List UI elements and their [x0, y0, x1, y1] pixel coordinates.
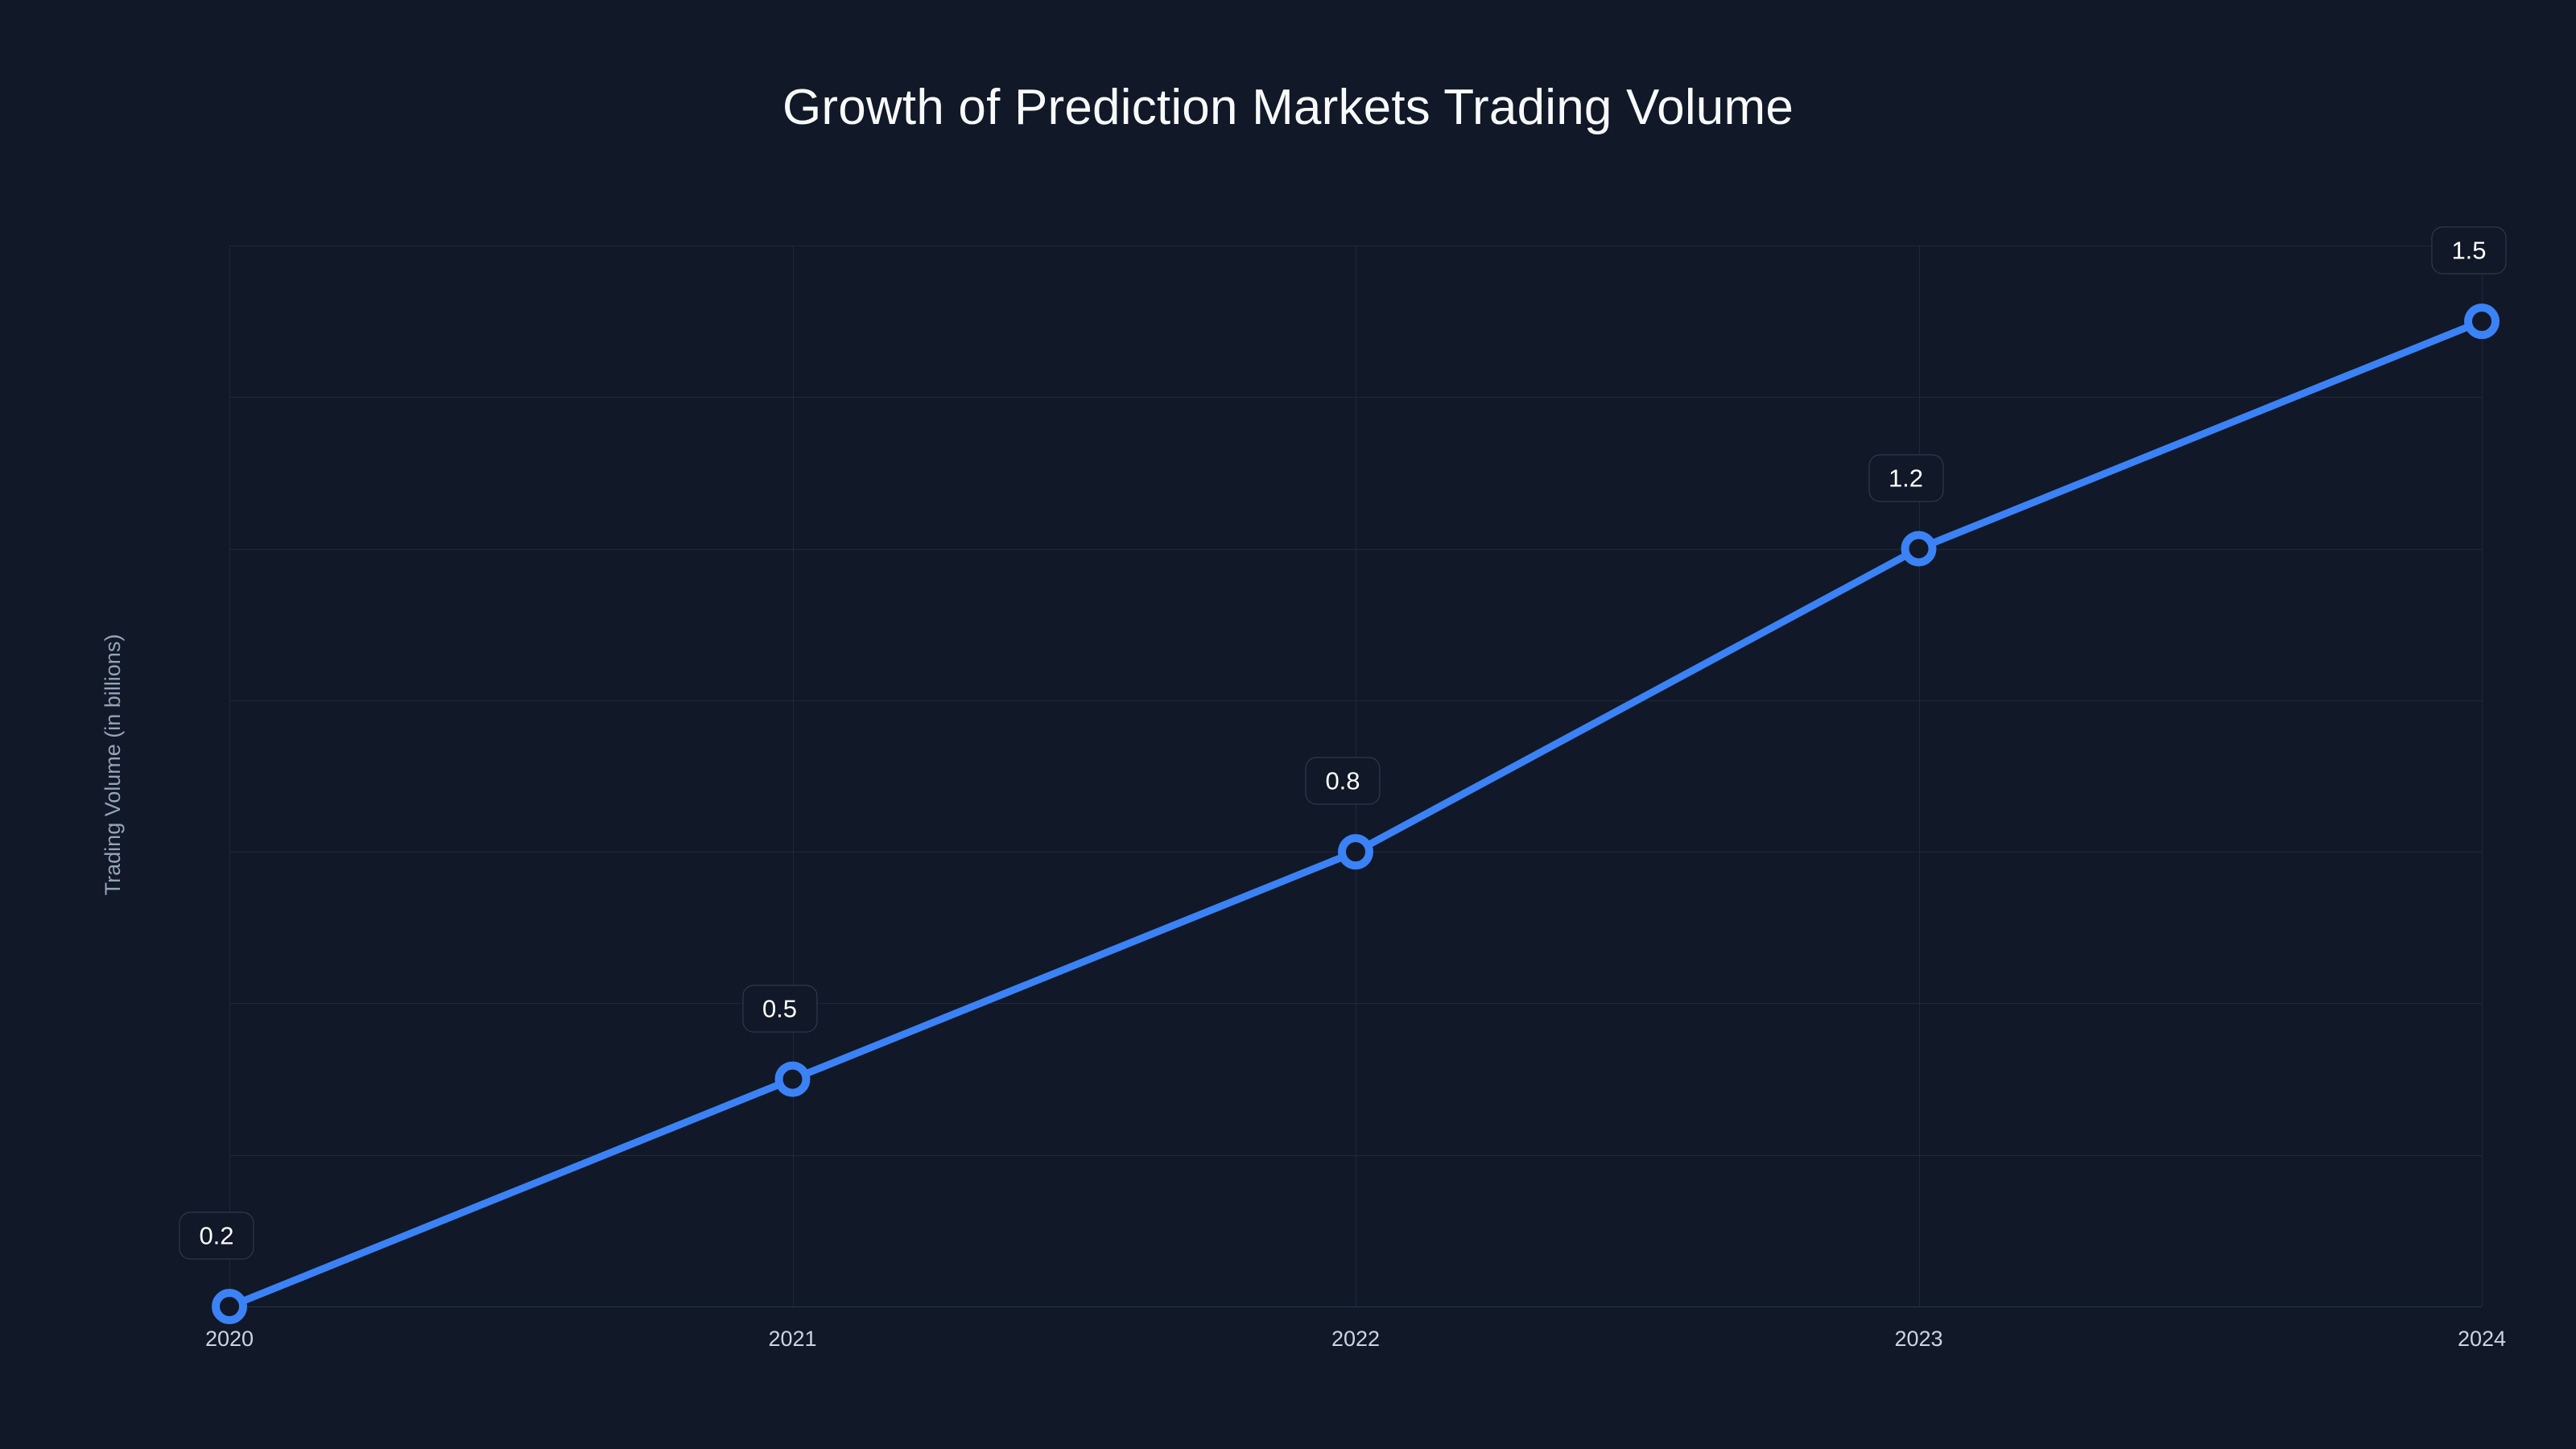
- gridline-vertical: [2482, 246, 2483, 1307]
- x-axis-line: [229, 1307, 2482, 1307]
- data-point-label-badge: 0.5: [742, 985, 817, 1032]
- data-point-label-badge: 1.5: [2431, 227, 2506, 275]
- data-point-label-badge: 0.2: [179, 1212, 254, 1260]
- gridline-vertical: [229, 246, 230, 1307]
- data-point-label-badge: 1.2: [1868, 454, 1943, 502]
- gridline-vertical: [793, 246, 794, 1307]
- x-axis-tick-label: 2024: [2385, 1327, 2576, 1352]
- x-axis-tick-label: 2020: [133, 1327, 326, 1352]
- gridline-vertical: [1919, 246, 1920, 1307]
- x-axis-tick-label: 2023: [1823, 1327, 2016, 1352]
- x-axis-tick-label: 2022: [1259, 1327, 1452, 1352]
- chart-container: Growth of Prediction Markets Trading Vol…: [0, 0, 2576, 1449]
- chart-title: Growth of Prediction Markets Trading Vol…: [0, 79, 2576, 136]
- y-axis-title: Trading Volume (in billions): [90, 612, 135, 918]
- x-axis-tick-label: 2021: [696, 1327, 890, 1352]
- data-point-label-badge: 0.8: [1305, 758, 1380, 805]
